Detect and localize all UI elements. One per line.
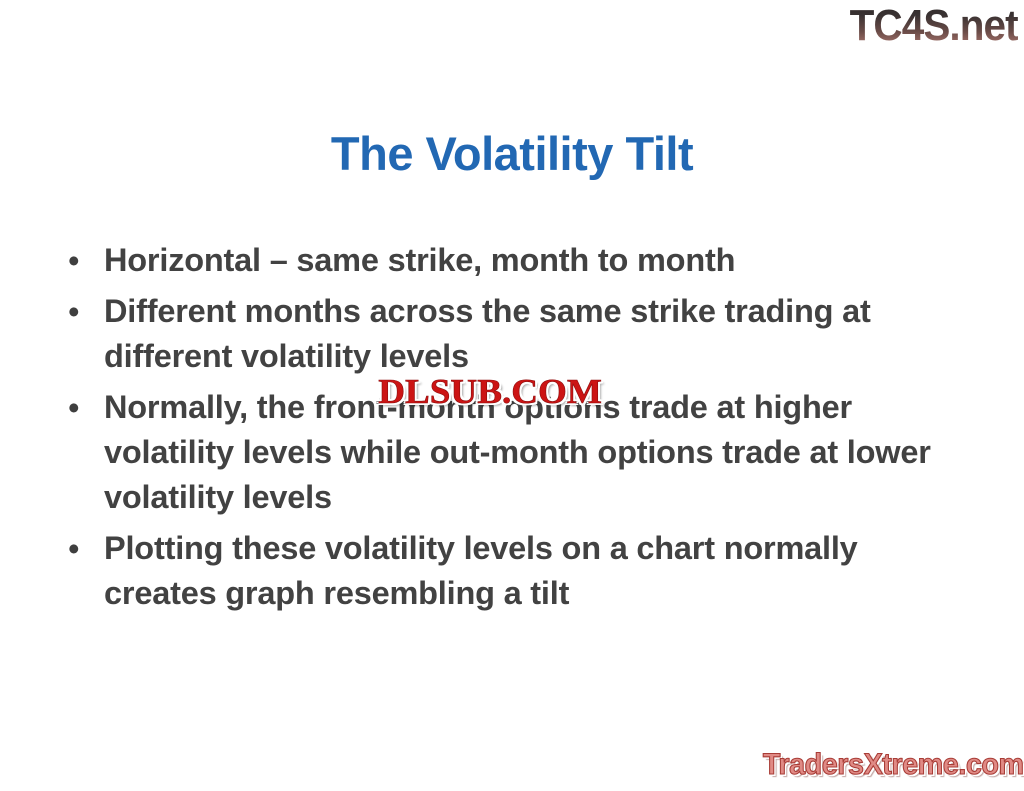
- list-item: • Plotting these volatility levels on a …: [62, 526, 972, 616]
- bullet-text: Horizontal – same strike, month to month: [104, 238, 972, 283]
- list-item: • Different months across the same strik…: [62, 289, 972, 379]
- bullet-text: Different months across the same strike …: [104, 289, 972, 379]
- bullet-marker-icon: •: [62, 289, 104, 334]
- tc4s-brand-logo: TC4S.net: [850, 2, 1018, 50]
- bullet-marker-icon: •: [62, 526, 104, 571]
- slide-title: The Volatility Tilt: [0, 126, 1024, 182]
- tradersxtreme-brand-logo: TradersXtreme.com: [763, 748, 1024, 782]
- dlsub-watermark: DLSUB.COM: [374, 372, 606, 412]
- bullet-list: • Horizontal – same strike, month to mon…: [62, 238, 972, 622]
- bullet-marker-icon: •: [62, 238, 104, 283]
- bullet-marker-icon: •: [62, 385, 104, 430]
- slide-canvas: TC4S.net The Volatility Tilt • Horizonta…: [0, 0, 1024, 791]
- bullet-text: Plotting these volatility levels on a ch…: [104, 526, 972, 616]
- list-item: • Horizontal – same strike, month to mon…: [62, 238, 972, 283]
